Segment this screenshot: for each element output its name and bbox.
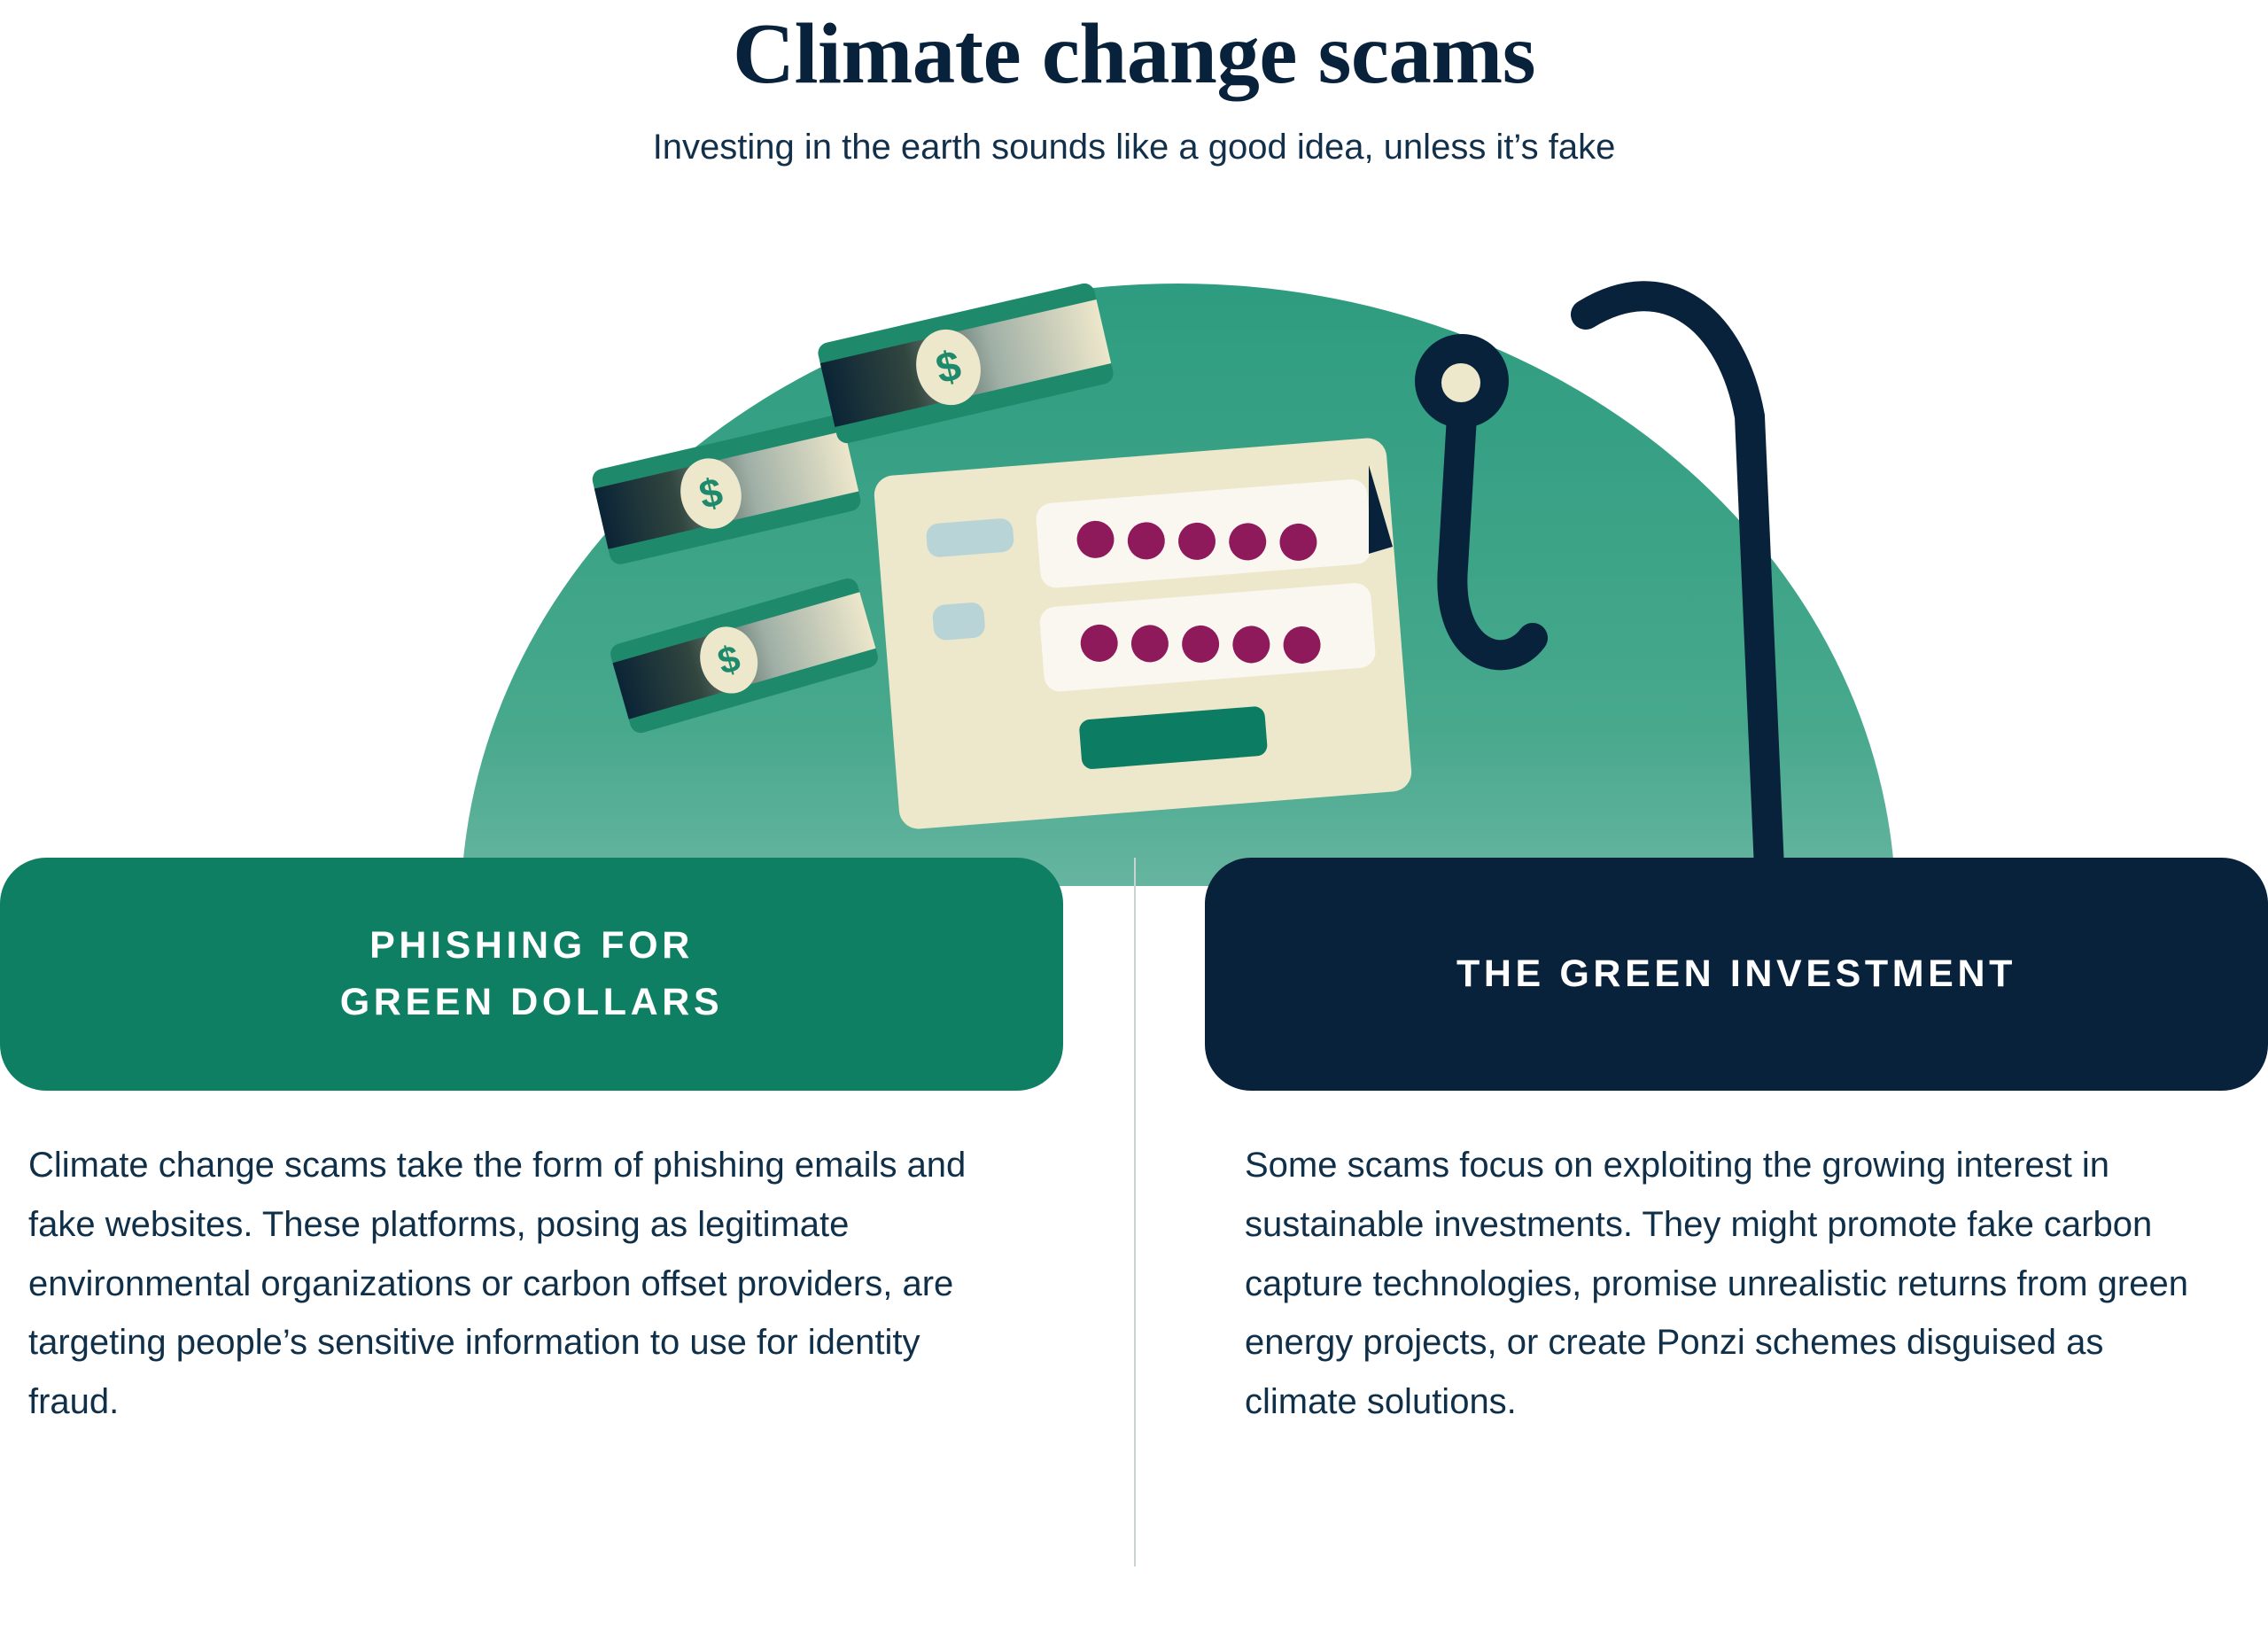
banner-slot-right: THE GREEN INVESTMENT — [1134, 858, 2268, 1091]
hook-barb — [1369, 465, 1393, 554]
section-body-text: Some scams focus on exploiting the growi… — [1245, 1136, 2224, 1432]
password-field-1 — [1035, 478, 1372, 589]
form-label-2 — [932, 602, 986, 641]
banner-label: THE GREEN INVESTMENT — [1456, 946, 2016, 1003]
fishhook — [1452, 296, 1772, 930]
banner-label: PHISHING FOR GREEN DOLLARS — [340, 918, 723, 1030]
section-body-text: Climate change scams take the form of ph… — [28, 1136, 1010, 1432]
page-title: Climate change scams — [0, 0, 2268, 105]
banknote-1: $ — [816, 281, 1115, 445]
form-label-1 — [926, 517, 1015, 558]
banknote-2: $ — [590, 414, 862, 566]
phishing-login-card — [873, 437, 1413, 830]
hook-eye — [1415, 334, 1509, 428]
section-body-columns: Climate change scams take the form of ph… — [0, 1136, 2268, 1432]
svg-text:$: $ — [713, 637, 744, 683]
page-subtitle: Investing in the earth sounds like a goo… — [0, 105, 2268, 170]
banner-the-green-investment[interactable]: THE GREEN INVESTMENT — [1205, 858, 2268, 1091]
column-the-green-investment: Some scams focus on exploiting the growi… — [1134, 1136, 2268, 1432]
column-phishing-for-green-dollars: Climate change scams take the form of ph… — [0, 1136, 1134, 1432]
password-field-2 — [1038, 582, 1376, 693]
page-header: Climate change scams Investing in the ea… — [0, 0, 2268, 170]
banner-slot-left: PHISHING FOR GREEN DOLLARS — [0, 858, 1134, 1091]
banner-phishing-for-green-dollars[interactable]: PHISHING FOR GREEN DOLLARS — [0, 858, 1063, 1091]
form-submit-button — [1078, 706, 1268, 770]
svg-text:$: $ — [932, 342, 966, 393]
section-banners: PHISHING FOR GREEN DOLLARS THE GREEN INV… — [0, 858, 2268, 1091]
svg-text:$: $ — [695, 469, 726, 517]
banknote-3: $ — [608, 576, 880, 735]
